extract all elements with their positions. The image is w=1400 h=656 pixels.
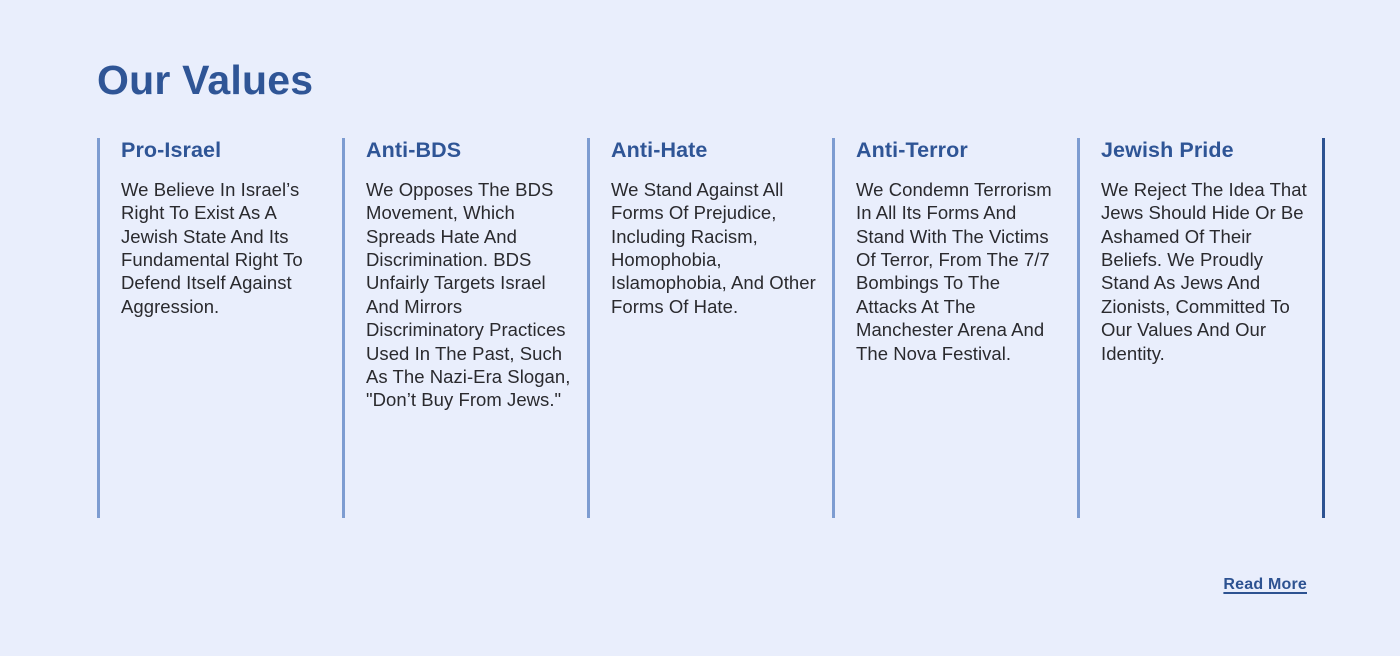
value-card-jewish-pride: Jewish Pride We Reject The Idea That Jew… bbox=[1077, 138, 1322, 518]
value-card-anti-hate: Anti-Hate We Stand Against All Forms Of … bbox=[587, 138, 832, 518]
value-card-anti-terror: Anti-Terror We Condemn Terrorism In All … bbox=[832, 138, 1077, 518]
values-columns: Pro-Israel We Believe In Israel’s Right … bbox=[97, 138, 1323, 518]
read-more-container: Read More bbox=[1223, 576, 1307, 594]
value-card-body: We Reject The Idea That Jews Should Hide… bbox=[1101, 178, 1308, 365]
value-card-title: Anti-Terror bbox=[856, 138, 1063, 164]
our-values-section: Our Values Pro-Israel We Believe In Isra… bbox=[0, 0, 1400, 656]
value-card-pro-israel: Pro-Israel We Believe In Israel’s Right … bbox=[97, 138, 342, 518]
value-card-title: Jewish Pride bbox=[1101, 138, 1308, 164]
page-title: Our Values bbox=[97, 57, 313, 104]
value-card-title: Anti-Hate bbox=[611, 138, 818, 164]
value-card-anti-bds: Anti-BDS We Opposes The BDS Movement, Wh… bbox=[342, 138, 587, 518]
value-card-body: We Stand Against All Forms Of Prejudice,… bbox=[611, 178, 818, 318]
columns-end-divider bbox=[1322, 138, 1325, 518]
value-card-body: We Opposes The BDS Movement, Which Sprea… bbox=[366, 178, 573, 412]
value-card-body: We Condemn Terrorism In All Its Forms An… bbox=[856, 178, 1063, 365]
value-card-title: Anti-BDS bbox=[366, 138, 573, 164]
read-more-link[interactable]: Read More bbox=[1223, 576, 1307, 594]
value-card-body: We Believe In Israel’s Right To Exist As… bbox=[121, 178, 328, 318]
value-card-title: Pro-Israel bbox=[121, 138, 328, 164]
